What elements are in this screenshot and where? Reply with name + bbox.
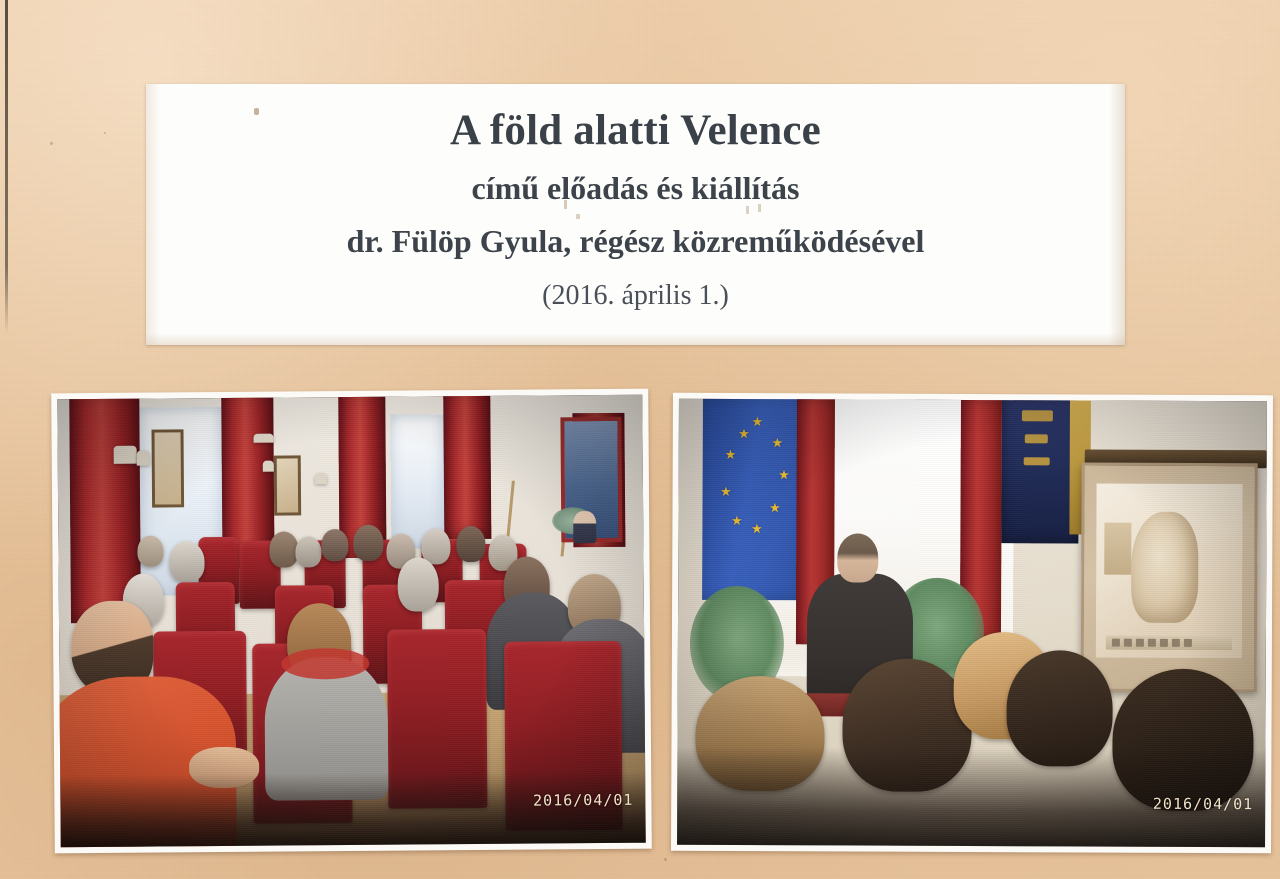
taskbar-icon <box>1148 638 1156 646</box>
eu-star-icon: ★ <box>778 469 790 482</box>
taskbar-icon <box>1184 638 1192 646</box>
slide-background-block <box>1105 522 1132 574</box>
taskbar-icon <box>1172 638 1180 646</box>
photo-audience: 2016/04/01 <box>51 389 652 854</box>
paper-speck <box>664 858 667 861</box>
audience-head <box>295 536 322 568</box>
audience-head <box>137 535 164 567</box>
ink-fleck <box>576 214 580 219</box>
album-page: A föld alatti Velence című előadás és ki… <box>0 0 1280 879</box>
eu-star-icon: ★ <box>772 436 784 449</box>
scan-edge-artifact <box>5 0 8 334</box>
framed-picture <box>151 430 184 508</box>
eu-star-icon: ★ <box>738 427 750 440</box>
audience-head <box>456 526 486 562</box>
audience-head <box>322 529 349 561</box>
projected-slide <box>1096 484 1243 659</box>
photo-presentation-image: ★ ★ ★ ★ ★ ★ ★ ★ ★ <box>677 399 1267 848</box>
wall-sconce <box>137 450 150 466</box>
speaker-head <box>837 533 878 582</box>
audience-head <box>398 558 439 612</box>
windows-taskbar <box>1106 635 1232 649</box>
event-title: A föld alatti Velence <box>146 106 1125 155</box>
eu-star-icon: ★ <box>725 448 737 461</box>
banner-emblem <box>1025 434 1048 443</box>
framed-picture <box>274 456 301 516</box>
banner-emblem <box>1022 410 1053 420</box>
ink-fleck <box>746 206 749 214</box>
event-subtitle: című előadás és kiállítás <box>146 170 1125 207</box>
wall-sconce <box>315 473 327 484</box>
red-curtain <box>443 395 491 540</box>
slide-archaeological-object <box>1131 512 1199 624</box>
ceremonial-banner <box>1002 399 1079 543</box>
wall-sconce <box>253 433 274 442</box>
wall-sconce <box>262 460 274 471</box>
audience-head <box>170 542 205 583</box>
taskbar-icon <box>1136 638 1144 646</box>
photo-timestamp: 2016/04/01 <box>1153 795 1253 813</box>
eu-star-icon: ★ <box>720 485 732 498</box>
eu-star-icon: ★ <box>769 501 781 514</box>
event-date: (2016. április 1.) <box>146 280 1125 312</box>
taskbar-icon <box>1160 638 1168 646</box>
paper-speck <box>104 132 106 134</box>
speaker-figure <box>573 512 597 544</box>
photo-audience-image: 2016/04/01 <box>57 395 646 848</box>
taskbar-icon <box>1112 638 1120 646</box>
eu-star-icon: ★ <box>751 522 763 535</box>
paper-speck <box>50 142 53 145</box>
photo-timestamp: 2016/04/01 <box>533 791 633 810</box>
audience-head <box>269 532 299 568</box>
wall-sconce <box>113 446 137 464</box>
banner-emblem <box>1023 458 1049 465</box>
projection-screen <box>1080 463 1258 693</box>
photo-presentation: ★ ★ ★ ★ ★ ★ ★ ★ ★ <box>671 393 1273 854</box>
event-presenter: dr. Fülöp Gyula, régész közreműködésével <box>146 223 1125 260</box>
eu-star-icon: ★ <box>731 513 743 526</box>
taskbar-icon <box>1124 638 1132 646</box>
eu-star-icon: ★ <box>752 415 764 428</box>
audience-head <box>354 524 384 560</box>
title-card: A föld alatti Velence című előadás és ki… <box>146 84 1125 345</box>
